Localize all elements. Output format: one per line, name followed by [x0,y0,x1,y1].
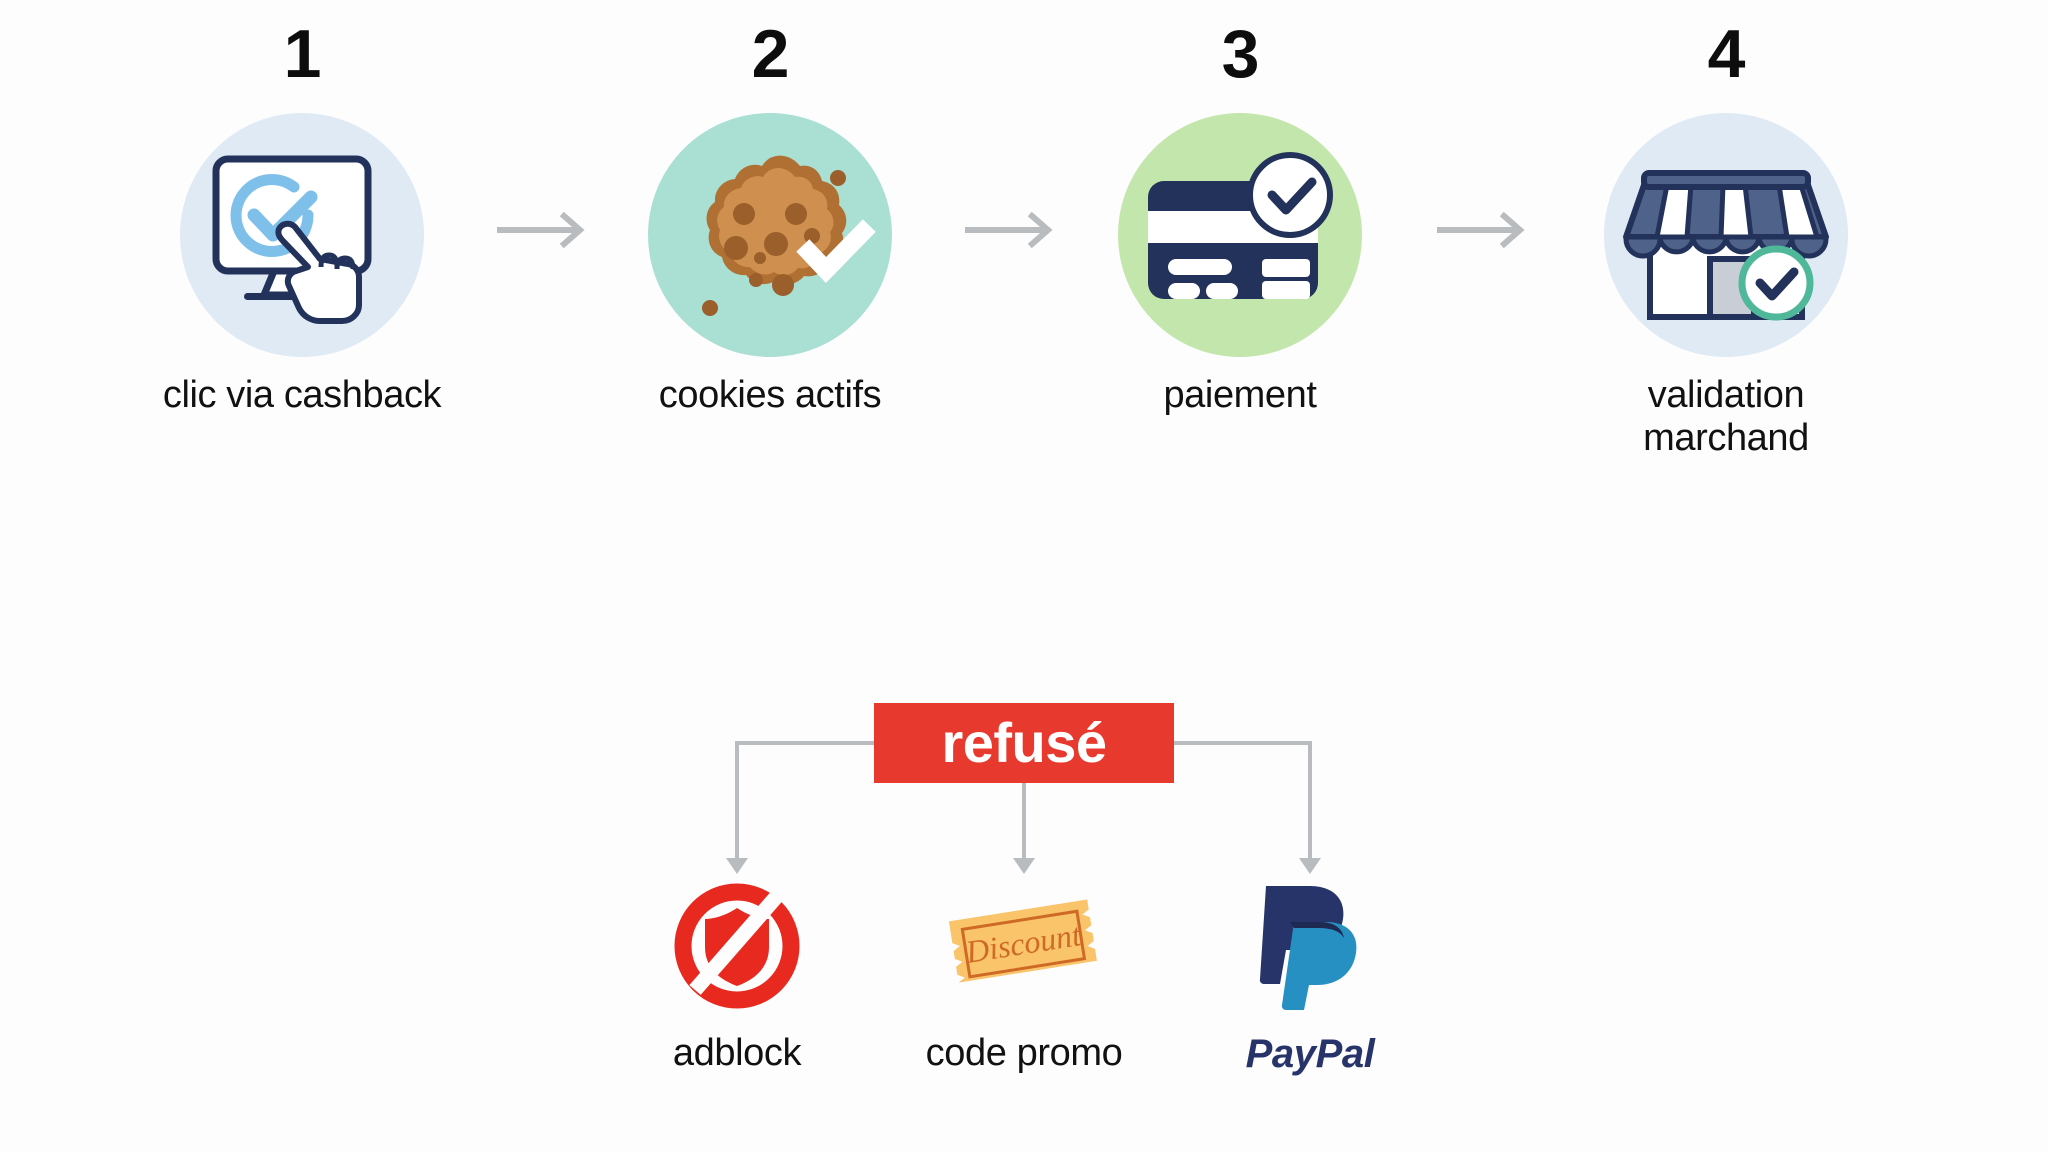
step-circle [180,113,424,357]
step-number: 1 [152,20,452,88]
step-label: paiement [1090,374,1390,417]
step-circle [648,113,892,357]
step-label-line-1: validation [1576,374,1876,417]
cause-label: adblock [587,1032,887,1075]
cause-label: PayPal [1160,1032,1460,1077]
discount-ticket-icon: Discount [936,886,1112,1010]
flow-step-2: 2 [620,20,920,417]
monitor-click-icon [202,145,402,325]
step-circle [1118,113,1362,357]
step-icon-wrap [620,110,920,360]
refused-cause-paypal: PayPal [1160,880,1460,1077]
step-number: 2 [620,20,920,88]
refused-banner-label: refusé [941,715,1106,771]
flow-step-4: 4 validation [1576,20,1876,459]
flow-step-3: 3 paiement [1090,20,1390,417]
step-label: validation marchand [1576,374,1876,459]
step-label-line-2: marchand [1576,417,1876,460]
adblock-shield-icon [673,882,801,1010]
flow-step-1: 1 clic via cashback [152,20,452,417]
cashback-flow: 1 clic via cashback [0,20,2048,440]
cause-icon-wrap: Discount [874,880,1174,1010]
cookie-check-icon [670,140,870,330]
infographic-canvas: 1 clic via cashback [0,0,2048,1152]
arrow-right-icon [1438,210,1534,250]
storefront-check-icon [1626,147,1826,323]
step-label: clic via cashback [152,374,452,417]
refused-cause-code-promo: Discount code promo [874,880,1174,1075]
paypal-logo-icon [1250,878,1370,1010]
step-icon-wrap [1576,110,1876,360]
refused-cause-adblock: adblock [587,880,887,1075]
step-circle [1604,113,1848,357]
step-icon-wrap [1090,110,1390,360]
step-label: cookies actifs [620,374,920,417]
step-icon-wrap [152,110,452,360]
arrow-right-icon [966,210,1062,250]
step-number: 4 [1576,20,1876,88]
cause-icon-wrap [587,880,887,1010]
arrow-right-icon [498,210,594,250]
credit-card-check-icon [1140,155,1340,315]
cause-icon-wrap [1160,880,1460,1010]
cause-label: code promo [874,1032,1174,1075]
step-number: 3 [1090,20,1390,88]
refused-banner: refusé [874,703,1174,783]
